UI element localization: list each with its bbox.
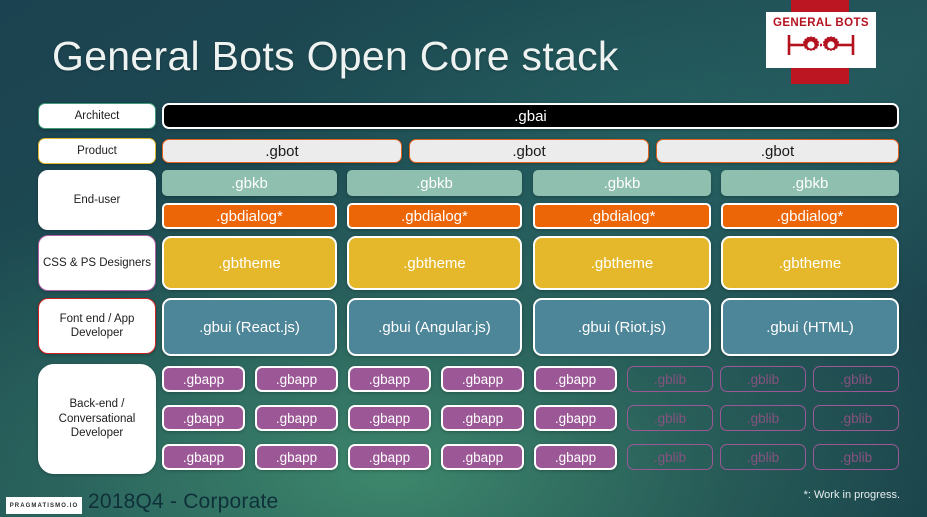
role-label-back-end-conversational-developer-text: Back-end / Conversational Developer [43, 397, 151, 440]
layer-gbapp[interactable]: .gbapp [441, 366, 524, 392]
layer-gbdialog-3[interactable]: .gbdialog* [533, 203, 711, 229]
pragmatismo-logo: PRAGMATISMO.IO [6, 497, 82, 514]
layer-gbkb-3-label: .gbkb [604, 175, 641, 192]
layer-gbdialog-2-label: .gbdialog* [401, 208, 468, 225]
layer-gblib-label: .gblib [654, 372, 686, 387]
layer-gbkb-4[interactable]: .gbkb [721, 170, 899, 196]
layer-gblib-label: .gblib [840, 411, 872, 426]
layer-gbdialog-2[interactable]: .gbdialog* [347, 203, 522, 229]
layer-gbui-react-label: .gbui (React.js) [199, 319, 300, 336]
layer-gbapp[interactable]: .gbapp [255, 366, 338, 392]
layer-gbapp[interactable]: .gbapp [162, 444, 245, 470]
layer-gblib-label: .gblib [747, 372, 779, 387]
layer-gbkb-4-label: .gbkb [792, 175, 829, 192]
role-label-front-end-app-developer: Font end / App Developer [38, 298, 156, 354]
general-bots-logo: GENERAL BOTS [766, 0, 876, 84]
pragmatismo-logo-text: PRAGMATISMO.IO [10, 503, 79, 509]
layer-gblib[interactable]: .gblib [627, 405, 713, 431]
layer-gblib[interactable]: .gblib [813, 444, 899, 470]
layer-gbtheme-3[interactable]: .gbtheme [533, 236, 711, 290]
role-label-css-ps-designers-text: CSS & PS Designers [43, 256, 151, 270]
layer-gbapp[interactable]: .gbapp [534, 444, 617, 470]
layer-gbkb-2[interactable]: .gbkb [347, 170, 522, 196]
layer-gbui-react[interactable]: .gbui (React.js) [162, 298, 337, 356]
layer-gbapp-label: .gbapp [276, 411, 317, 426]
layer-gbot-3-label: .gbot [761, 143, 794, 160]
footer-caption: 2018Q4 - Corporate [88, 490, 278, 514]
layer-gbapp[interactable]: .gbapp [162, 405, 245, 431]
role-label-front-end-app-developer-text: Font end / App Developer [43, 312, 151, 341]
slide-canvas: General Bots Open Core stack GENERAL BOT… [0, 0, 927, 517]
role-label-end-user-text: End-user [74, 193, 121, 207]
layer-gbapp-label: .gbapp [276, 372, 317, 387]
layer-gbapp-label: .gbapp [462, 372, 503, 387]
layer-gbapp-label: .gbapp [183, 372, 224, 387]
layer-gbapp-label: .gbapp [555, 450, 596, 465]
layer-gblib-label: .gblib [654, 411, 686, 426]
layer-gbapp-label: .gbapp [369, 372, 410, 387]
layer-gblib[interactable]: .gblib [720, 366, 806, 392]
layer-gblib[interactable]: .gblib [720, 405, 806, 431]
role-label-product-text: Product [77, 144, 117, 158]
layer-gbapp-label: .gbapp [462, 411, 503, 426]
layer-gbtheme-4[interactable]: .gbtheme [721, 236, 899, 290]
layer-gbtheme-1-label: .gbtheme [218, 255, 281, 272]
layer-gbapp[interactable]: .gbapp [534, 405, 617, 431]
layer-gblib-label: .gblib [747, 411, 779, 426]
layer-gbdialog-4-label: .gbdialog* [777, 208, 844, 225]
role-label-architect: Architect [38, 103, 156, 129]
layer-gbapp[interactable]: .gbapp [348, 444, 431, 470]
layer-gblib-label: .gblib [840, 372, 872, 387]
layer-gbapp[interactable]: .gbapp [255, 405, 338, 431]
layer-gbapp[interactable]: .gbapp [441, 444, 524, 470]
layer-gbapp-label: .gbapp [555, 411, 596, 426]
layer-gbapp-label: .gbapp [369, 411, 410, 426]
layer-gbui-angular[interactable]: .gbui (Angular.js) [347, 298, 522, 356]
role-label-product: Product [38, 138, 156, 164]
logo-wordmark: GENERAL BOTS [773, 18, 869, 30]
layer-gblib[interactable]: .gblib [627, 366, 713, 392]
layer-gblib[interactable]: .gblib [813, 366, 899, 392]
layer-gbkb-1-label: .gbkb [231, 175, 268, 192]
layer-gbapp-label: .gbapp [183, 411, 224, 426]
layer-gbui-riot-label: .gbui (Riot.js) [578, 319, 666, 336]
layer-gbui-angular-label: .gbui (Angular.js) [378, 319, 491, 336]
layer-gbapp[interactable]: .gbapp [162, 366, 245, 392]
layer-gbapp-label: .gbapp [369, 450, 410, 465]
layer-gbapp-label: .gbapp [183, 450, 224, 465]
layer-gbtheme-2-label: .gbtheme [403, 255, 466, 272]
layer-gblib-label: .gblib [840, 450, 872, 465]
layer-gbapp-label: .gbapp [462, 450, 503, 465]
layer-gblib[interactable]: .gblib [720, 444, 806, 470]
logo-card: GENERAL BOTS [766, 12, 876, 68]
layer-gbapp[interactable]: .gbapp [255, 444, 338, 470]
layer-gbapp-label: .gbapp [555, 372, 596, 387]
role-label-architect-text: Architect [75, 109, 120, 123]
layer-gbapp[interactable]: .gbapp [348, 405, 431, 431]
layer-gbot-2[interactable]: .gbot [409, 139, 649, 163]
layer-gbkb-2-label: .gbkb [416, 175, 453, 192]
layer-gbui-html[interactable]: .gbui (HTML) [721, 298, 899, 356]
layer-gbapp[interactable]: .gbapp [534, 366, 617, 392]
layer-gbdialog-1-label: .gbdialog* [216, 208, 283, 225]
layer-gbdialog-4[interactable]: .gbdialog* [721, 203, 899, 229]
layer-gblib[interactable]: .gblib [627, 444, 713, 470]
layer-gbui-riot[interactable]: .gbui (Riot.js) [533, 298, 711, 356]
layer-gbot-1-label: .gbot [265, 143, 298, 160]
page-title: General Bots Open Core stack [52, 33, 619, 80]
layer-gbkb-3[interactable]: .gbkb [533, 170, 711, 196]
layer-gblib-label: .gblib [747, 450, 779, 465]
layer-gbdialog-3-label: .gbdialog* [589, 208, 656, 225]
layer-gbai-label: .gbai [514, 108, 547, 125]
layer-gbapp[interactable]: .gbapp [348, 366, 431, 392]
role-label-end-user: End-user [38, 170, 156, 230]
layer-gbot-3[interactable]: .gbot [656, 139, 899, 163]
role-label-back-end-conversational-developer: Back-end / Conversational Developer [38, 364, 156, 474]
layer-gblib-label: .gblib [654, 450, 686, 465]
layer-gbot-1[interactable]: .gbot [162, 139, 402, 163]
layer-gbai[interactable]: .gbai [162, 103, 899, 129]
layer-gbtheme-1[interactable]: .gbtheme [162, 236, 337, 290]
layer-gbdialog-1[interactable]: .gbdialog* [162, 203, 337, 229]
layer-gbtheme-2[interactable]: .gbtheme [347, 236, 522, 290]
layer-gblib[interactable]: .gblib [813, 405, 899, 431]
layer-gbtheme-4-label: .gbtheme [779, 255, 842, 272]
work-in-progress-note: *: Work in progress. [804, 489, 900, 501]
layer-gbot-2-label: .gbot [512, 143, 545, 160]
role-label-css-ps-designers: CSS & PS Designers [38, 235, 156, 291]
gears-icon [784, 33, 858, 62]
layer-gbapp-label: .gbapp [276, 450, 317, 465]
layer-gbkb-1[interactable]: .gbkb [162, 170, 337, 196]
layer-gbui-html-label: .gbui (HTML) [766, 319, 854, 336]
layer-gbtheme-3-label: .gbtheme [591, 255, 654, 272]
layer-gbapp[interactable]: .gbapp [441, 405, 524, 431]
